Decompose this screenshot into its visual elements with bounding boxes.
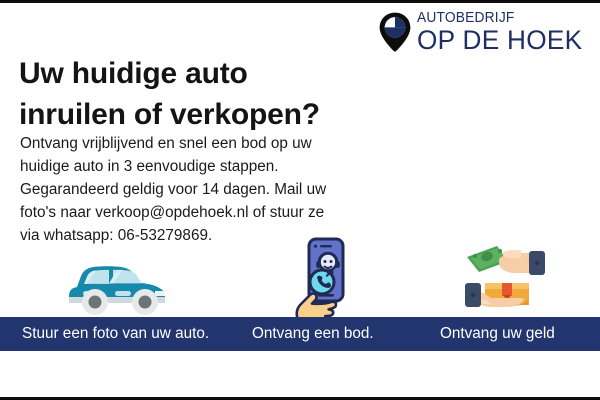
- brand-logo-text: AUTOBEDRIJF OP DE HOEK: [417, 11, 588, 54]
- promo-banner: AUTOBEDRIJF OP DE HOEK Uw huidige auto i…: [0, 0, 600, 400]
- money-exchange-icon: [455, 239, 555, 317]
- body-line-3: Gegarandeerd geldig voor 14 dagen. Mail …: [20, 179, 360, 202]
- headline-line-2: inruilen of verkopen?: [19, 95, 320, 136]
- step-3-icon-cell: [420, 239, 590, 317]
- headline-line-1: Uw huidige auto: [19, 54, 320, 95]
- step-2-icon-cell: [234, 237, 414, 317]
- cash-hand: [467, 246, 545, 275]
- brand-line-1: AUTOBEDRIJF: [417, 11, 579, 26]
- body-line-1: Ontvang vrijblijvend en snel een bod op …: [20, 133, 360, 156]
- body-line-2: huidige auto in 3 eenvoudige stappen.: [20, 156, 360, 179]
- package-hand: [465, 283, 529, 307]
- steps-icon-row: [0, 235, 600, 317]
- phone-in-hand-icon: [288, 237, 360, 317]
- brand-logo[interactable]: AUTOBEDRIJF OP DE HOEK: [378, 11, 588, 54]
- step-2-caption: Ontvang een bod.: [252, 317, 374, 351]
- car-icon: [59, 251, 177, 317]
- step-3-caption: Ontvang uw geld: [440, 317, 555, 351]
- brand-line-2: OP DE HOEK: [417, 27, 582, 54]
- step-1-icon-cell: [12, 251, 224, 317]
- step-1-caption: Stuur een foto van uw auto.: [22, 317, 209, 351]
- map-pin-icon: [378, 12, 412, 52]
- body-copy: Ontvang vrijblijvend en snel een bod op …: [20, 133, 360, 248]
- body-line-4: foto's naar verkoop@opdehoek.nl of stuur…: [20, 202, 360, 225]
- steps-caption-bar: Stuur een foto van uw auto. Ontvang een …: [0, 317, 600, 351]
- headline: Uw huidige auto inruilen of verkopen?: [19, 54, 320, 135]
